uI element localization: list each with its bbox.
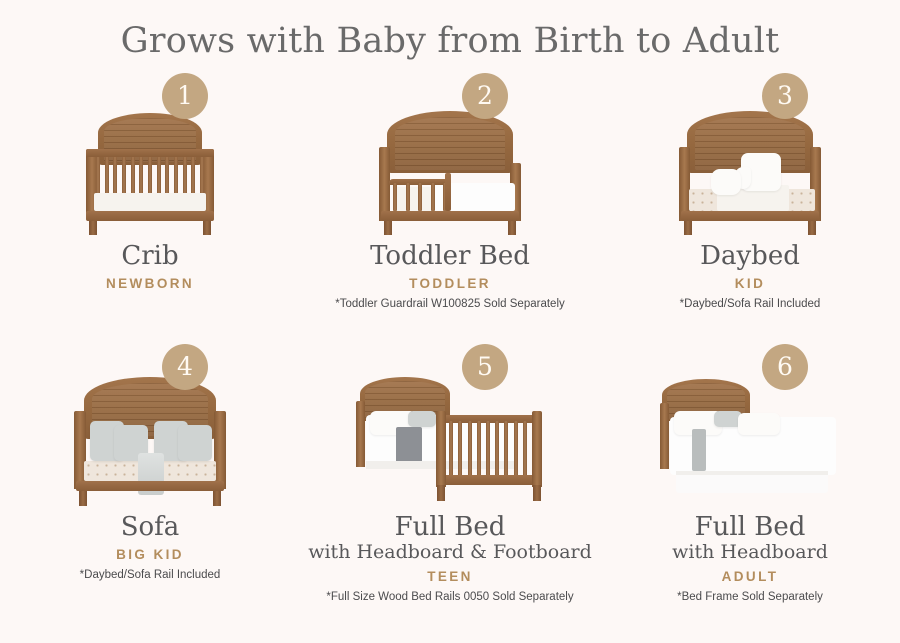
product-stage-card-1[interactable]: 1 [0, 73, 300, 344]
product-caption-5: Full Bed with Headboard & Footboard TEEN… [300, 513, 600, 606]
product-stage-card-5[interactable]: 5 [300, 344, 600, 615]
full-bed-headboard-illustration [652, 377, 848, 507]
product-stage-card-2[interactable]: 2 [300, 73, 600, 344]
star-pillow [711, 169, 741, 195]
product-name-3: Daybed [600, 242, 900, 272]
stage-number-badge-5: 5 [462, 344, 508, 390]
product-caption-3: Daybed KID *Daybed/Sofa Rail Included [600, 242, 900, 313]
product-caption-1: Crib NEWBORN [0, 242, 300, 298]
stage-label-3: KID [600, 276, 900, 291]
toddler-bed-illustration [367, 111, 533, 236]
page-title: Grows with Baby from Birth to Adult [0, 0, 900, 61]
product-name-1: Crib [0, 242, 300, 272]
product-subname-5: with Headboard & Footboard [300, 541, 600, 564]
daybed-illustration [667, 111, 833, 236]
product-name-6: Full Bed [600, 513, 900, 543]
product-note-3: *Daybed/Sofa Rail Included [600, 297, 900, 312]
product-caption-4: Sofa BIG KID *Daybed/Sofa Rail Included [0, 513, 300, 584]
product-lifecycle-infographic: Grows with Baby from Birth to Adult 1 [0, 0, 900, 643]
product-stage-card-4[interactable]: 4 [0, 344, 300, 615]
product-name-5: Full Bed [300, 513, 600, 543]
stage-number-badge-6: 6 [762, 344, 808, 390]
product-image-4 [0, 362, 300, 507]
product-name-4: Sofa [0, 513, 300, 543]
stage-number-badge-2: 2 [462, 73, 508, 119]
crib-illustration [70, 111, 230, 236]
product-caption-6: Full Bed with Headboard ADULT *Bed Frame… [600, 513, 900, 606]
product-note-4: *Daybed/Sofa Rail Included [0, 568, 300, 583]
stage-label-6: ADULT [600, 569, 900, 584]
stage-label-1: NEWBORN [0, 276, 300, 291]
stage-number-badge-3: 3 [762, 73, 808, 119]
sofa-illustration [62, 377, 238, 507]
product-image-6 [600, 362, 900, 507]
product-image-5 [300, 362, 600, 507]
product-caption-2: Toddler Bed TODDLER *Toddler Guardrail W… [300, 242, 600, 313]
product-stage-card-3[interactable]: 3 [600, 73, 900, 344]
product-subname-6: with Headboard [600, 541, 900, 564]
product-image-3 [600, 91, 900, 236]
stage-label-5: TEEN [300, 569, 600, 584]
full-bed-headboard-footboard-illustration [352, 375, 548, 507]
product-note-6: *Bed Frame Sold Separately [600, 590, 900, 605]
stage-number-badge-1: 1 [162, 73, 208, 119]
product-image-1 [0, 91, 300, 236]
product-name-2: Toddler Bed [300, 242, 600, 272]
product-image-2 [300, 91, 600, 236]
product-note-2: *Toddler Guardrail W100825 Sold Separate… [300, 297, 600, 312]
product-stage-card-6[interactable]: 6 Full Bed [600, 344, 900, 615]
stage-number-badge-4: 4 [162, 344, 208, 390]
stage-label-4: BIG KID [0, 547, 300, 562]
product-note-5: *Full Size Wood Bed Rails 0050 Sold Sepa… [300, 590, 600, 605]
stage-label-2: TODDLER [300, 276, 600, 291]
product-stage-grid: 1 [0, 73, 900, 615]
